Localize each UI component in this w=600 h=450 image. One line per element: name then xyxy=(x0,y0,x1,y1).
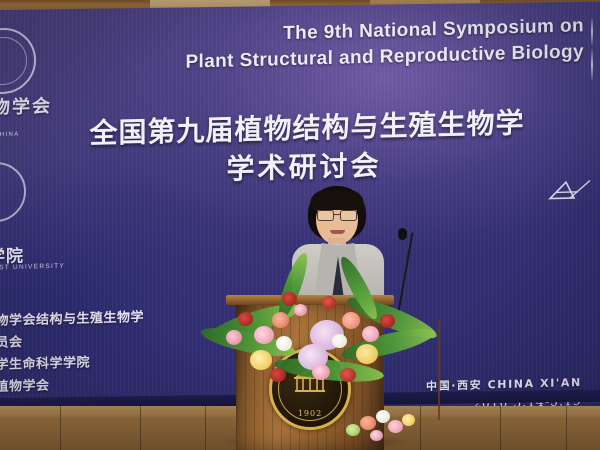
english-title: The 9th National Symposium on Plant Stru… xyxy=(164,13,584,76)
society-mark-sublabel: CHINA xyxy=(0,132,20,139)
floral-arrangement xyxy=(214,268,436,398)
floor-flowers xyxy=(330,404,470,446)
society-mark-label: 物学会 xyxy=(0,97,52,119)
organizer-list: 植物学会结构与生殖生物学 委员会 大学生命科学学院 省植物学会 xyxy=(0,307,144,399)
university-name-en: WEST UNIVERSITY xyxy=(0,263,65,272)
organizer-line: 植物学会结构与生殖生物学 xyxy=(0,307,144,333)
conference-photo: The 9th National Symposium on Plant Stru… xyxy=(0,0,600,450)
title-divider-rule-top xyxy=(591,19,593,45)
chinese-title: 全国第九届植物结构与生殖生物学 学术研讨会 xyxy=(0,102,600,195)
speaker-fringe xyxy=(310,190,364,210)
speaker-mouth xyxy=(330,230,345,234)
sponsor-logo-icon xyxy=(548,177,592,202)
society-emblem-icon xyxy=(0,27,36,95)
title-divider-rule-bottom xyxy=(591,50,593,80)
glasses-icon xyxy=(317,210,357,219)
microphone-head xyxy=(398,228,407,240)
